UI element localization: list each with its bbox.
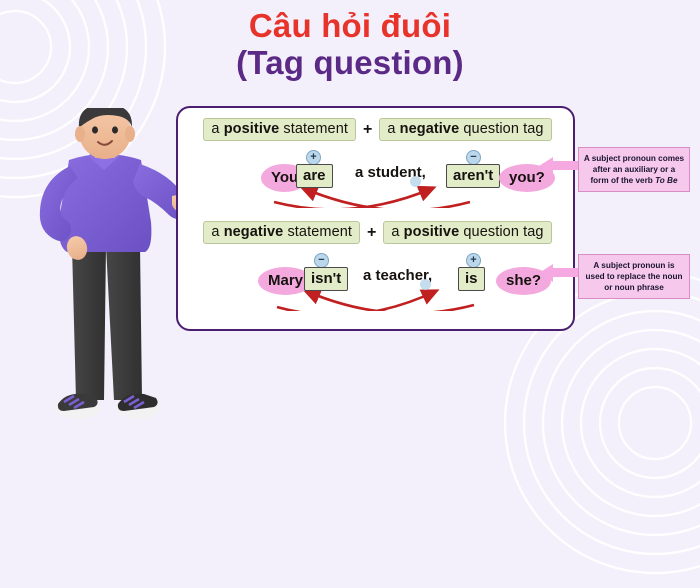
- formula-left-chip: a positive statement: [203, 118, 356, 141]
- note-line-4: of the verb: [611, 176, 655, 185]
- sign-badge-positive: +: [466, 253, 481, 268]
- formula-operator: +: [363, 121, 372, 139]
- formula-right-chip: a positive question tag: [383, 221, 551, 244]
- callout-arrow-1: [537, 157, 581, 175]
- formula-right-chip: a negative question tag: [379, 118, 551, 141]
- note-line-4: phrase: [637, 283, 664, 292]
- page-title: Câu hỏi đuôi (Tag question): [0, 8, 700, 82]
- formula-right-suffix: question tag: [459, 224, 543, 240]
- formula-left-emphasis: positive: [224, 121, 280, 137]
- title-vietnamese: Câu hỏi đuôi: [0, 8, 700, 45]
- formula-right-emphasis: negative: [400, 121, 460, 137]
- note-line-1: A subject pronoun: [593, 261, 665, 270]
- lesson-board: a positive statement + a negative questi…: [176, 106, 575, 331]
- callout-note-2: A subject pronoun is used to replace the…: [578, 254, 690, 299]
- rule-block-positive-statement: a positive statement + a negative questi…: [178, 118, 577, 208]
- formula-left-chip: a negative statement: [203, 221, 360, 244]
- token-tag-verb: is: [458, 267, 485, 291]
- comma-marker: [410, 176, 421, 187]
- sign-badge-positive: +: [306, 150, 321, 165]
- callout-note-1: A subject pronoun comes after an auxilia…: [578, 147, 690, 192]
- formula-right-suffix: question tag: [459, 121, 543, 137]
- formula-left-suffix: statement: [283, 224, 352, 240]
- sign-badge-negative: −: [314, 253, 329, 268]
- rule-block-negative-statement: a negative statement + a positive questi…: [178, 221, 577, 311]
- formula-line: a positive statement + a negative questi…: [178, 118, 577, 141]
- formula-operator: +: [367, 224, 376, 242]
- formula-line: a negative statement + a positive questi…: [178, 221, 577, 244]
- formula-left-prefix: a: [211, 121, 223, 137]
- token-verb: are: [296, 164, 333, 188]
- token-tag-verb: aren't: [446, 164, 500, 188]
- token-verb: isn't: [304, 267, 348, 291]
- note-italic-term: To Be: [655, 176, 677, 185]
- example-sentence-2: Mary − isn't a teacher, + is she?: [178, 253, 577, 311]
- formula-right-prefix: a: [391, 224, 403, 240]
- title-english: (Tag question): [0, 45, 700, 82]
- comma-marker: [420, 279, 431, 290]
- example-sentence-1: You + are a student, − aren't you?: [178, 150, 577, 208]
- formula-left-suffix: statement: [279, 121, 348, 137]
- callout-arrow-2: [537, 264, 581, 282]
- formula-right-prefix: a: [387, 121, 399, 137]
- formula-left-emphasis: negative: [224, 224, 284, 240]
- formula-left-prefix: a: [211, 224, 223, 240]
- sign-badge-negative: −: [466, 150, 481, 165]
- formula-right-emphasis: positive: [404, 224, 460, 240]
- note-line-1: A subject pronoun: [584, 154, 656, 163]
